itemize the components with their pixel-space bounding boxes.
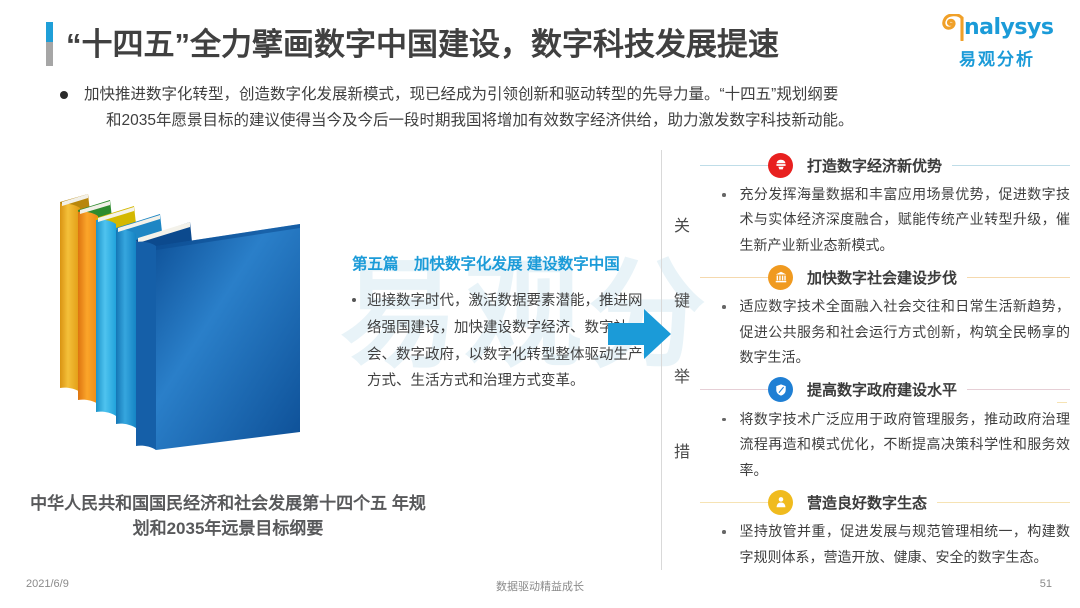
bullet-dot-icon [722, 193, 726, 197]
measure-section: 加快数字社会建设步伐 适应数字技术全面融入社会交往和日常生活新趋势，促进公共服务… [700, 262, 1070, 370]
key-measures-char-2: 举 [674, 363, 690, 387]
section-header: 打造数字经济新优势 [700, 150, 1070, 180]
middle-title: 第五篇 加快数字化发展 建设数字中国 [352, 252, 652, 274]
logo-word-text: nalysys [964, 15, 1053, 40]
bank-building-glyph [774, 270, 788, 284]
key-measures-char-0: 关 [674, 212, 690, 236]
analysys-logo: nalysys 易观分析 [934, 14, 1060, 66]
intro-text: 加快推进数字化转型，创造数字化发展新模式，现已经成为引领创新和驱动转型的先导力量… [84, 82, 854, 133]
books-caption: 中华人民共和国国民经济和社会发展第十四个五 年规划和2035年远景目标纲要 [28, 492, 428, 541]
section-rule-left [700, 277, 768, 278]
bank-building-icon [768, 265, 793, 290]
books-svg [38, 160, 318, 480]
section-header: 营造良好数字生态 [700, 487, 1070, 517]
section-body: 适应数字技术全面融入社会交往和日常生活新趋势，促进公共服务和社会运行方式创新，构… [700, 294, 1070, 370]
section-title: 提高数字政府建设水平 [807, 379, 957, 400]
section-body-text: 坚持放管并重，促进发展与规范管理相统一，构建数字规则体系，营造开放、健康、安全的… [740, 519, 1071, 570]
measure-section: 营造良好数字生态 坚持放管并重，促进发展与规范管理相统一，构建数字规则体系，营造… [700, 487, 1070, 570]
intro-line-1: 加快推进数字化转型，创造数字化发展新模式，现已经成为引领创新和驱动转型的先导力量… [84, 86, 838, 103]
middle-body: 迎接数字时代，激活数据要素潜能，推进网络强国建设，加快建设数字经济、数字社会、数… [352, 288, 652, 395]
section-header: 加快数字社会建设步伐 [700, 262, 1070, 292]
books-caption-line-1: 中华人民共和国国民经济和社会发展第十四个五 [30, 494, 387, 513]
logo-swirl-icon [942, 14, 966, 41]
section-rule-right [937, 502, 1070, 503]
section-rule-left [700, 165, 768, 166]
section-title: 打造数字经济新优势 [807, 155, 942, 176]
section-body: 将数字技术广泛应用于政府管理服务，推动政府治理流程再造和模式优化，不断提高决策科… [700, 407, 1070, 483]
section-body-text: 将数字技术广泛应用于政府管理服务，推动政府治理流程再造和模式优化，不断提高决策科… [740, 407, 1071, 483]
arrow-right-icon [608, 306, 672, 362]
title-accent-bar [46, 22, 53, 66]
bullet-dot-icon [722, 530, 726, 534]
bullet-dot-icon [722, 305, 726, 309]
section-body: 充分发挥海量数据和丰富应用场景优势，促进数字技术与实体经济深度融合，赋能传统产业… [700, 182, 1070, 258]
measure-section: 打造数字经济新优势 充分发挥海量数据和丰富应用场景优势，促进数字技术与实体经济深… [700, 150, 1070, 258]
leaf-badge-glyph [774, 158, 788, 172]
section-header: 提高数字政府建设水平 [700, 375, 1070, 405]
middle-column: 第五篇 加快数字化发展 建设数字中国 迎接数字时代，激活数据要素潜能，推进网络强… [352, 252, 652, 395]
section-rule-left [700, 502, 768, 503]
footer-slogan: 数据驱动精益成长 [0, 578, 1080, 594]
logo-chinese-text: 易观分析 [934, 45, 1060, 70]
measures-panel: 打造数字经济新优势 充分发挥海量数据和丰富应用场景优势，促进数字技术与实体经济深… [700, 150, 1070, 574]
key-measures-label: 关 键 举 措 [670, 212, 694, 462]
page-footer: 2021/6/9 数据驱动精益成长 51 [0, 578, 1080, 598]
section-body-text: 适应数字技术全面融入社会交往和日常生活新趋势，促进公共服务和社会运行方式创新，构… [740, 294, 1071, 370]
section-title: 营造良好数字生态 [807, 492, 927, 513]
bullet-dot-icon [352, 298, 356, 302]
logo-wordmark: nalysys [934, 14, 1060, 42]
flow-arrow [608, 306, 672, 367]
measure-section: 提高数字政府建设水平 将数字技术广泛应用于政府管理服务，推动政府治理流程再造和模… [700, 375, 1070, 483]
shield-glyph [774, 383, 788, 397]
person-badge-icon [768, 490, 793, 515]
section-rule-right [967, 277, 1070, 278]
section-rule-left [700, 389, 768, 390]
key-measures-char-3: 措 [674, 438, 690, 462]
shield-icon [768, 377, 793, 402]
section-rule-right [967, 389, 1070, 390]
section-rule-mid [1057, 402, 1067, 403]
section-title: 加快数字社会建设步伐 [807, 267, 957, 288]
intro-line-2: 和2035年愿景目标的建议使得当今及今后一段时期我国将增加有效数字经济供给，助力… [84, 108, 854, 134]
intro-bullet: 加快推进数字化转型，创造数字化发展新模式，现已经成为引领创新和驱动转型的先导力量… [60, 82, 1060, 133]
page-title: “十四五”全力擘画数字中国建设，数字科技发展提速 [66, 19, 779, 64]
section-rule-right [952, 165, 1070, 166]
leaf-badge-icon [768, 153, 793, 178]
section-body: 坚持放管并重，促进发展与规范管理相统一，构建数字规则体系，营造开放、健康、安全的… [700, 519, 1070, 570]
bullet-dot-icon [60, 91, 68, 99]
footer-page-number: 51 [1040, 578, 1052, 590]
key-measures-char-1: 键 [674, 287, 690, 311]
person-badge-glyph [774, 495, 788, 509]
section-body-text: 充分发挥海量数据和丰富应用场景优势，促进数字技术与实体经济深度融合，赋能传统产业… [740, 182, 1071, 258]
books-illustration [38, 160, 318, 480]
bullet-dot-icon [722, 418, 726, 422]
